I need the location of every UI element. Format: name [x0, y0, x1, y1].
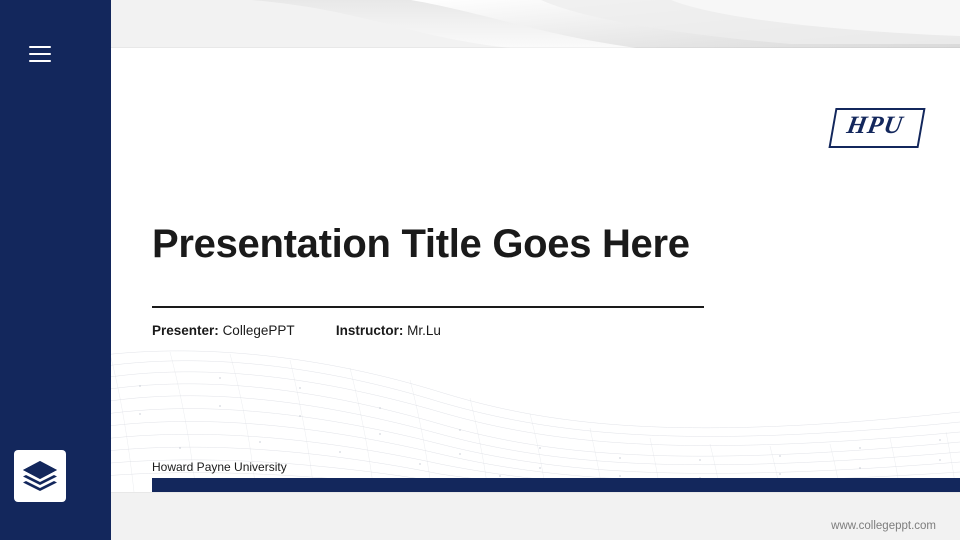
hamburger-icon[interactable] — [29, 46, 51, 62]
swoosh-graphic — [111, 0, 960, 50]
page-title: Presentation Title Goes Here — [152, 222, 690, 267]
left-sidebar — [0, 0, 111, 540]
presentation-meta: Presenter: CollegePPT Instructor: Mr.Lu — [152, 323, 441, 338]
decorative-swoosh — [111, 0, 960, 50]
slide-bottom-bar — [152, 478, 960, 492]
instructor-name: Mr.Lu — [407, 323, 441, 338]
presenter-name: CollegePPT — [223, 323, 295, 338]
app-root: HPU Presentation Title Goes Here Present… — [0, 0, 960, 540]
presenter-label: Presenter: — [152, 323, 219, 338]
logo-text: HPU — [829, 108, 921, 144]
footer-url: www.collegeppt.com — [831, 520, 936, 532]
layers-glyph — [14, 450, 66, 502]
title-divider — [152, 306, 704, 308]
slide-canvas: HPU Presentation Title Goes Here Present… — [80, 48, 960, 492]
hpu-logo: HPU — [832, 108, 922, 148]
organization-name: Howard Payne University — [152, 460, 287, 474]
layers-icon[interactable] — [14, 450, 66, 502]
instructor-label: Instructor: — [336, 323, 404, 338]
mesh-decoration — [80, 262, 960, 492]
